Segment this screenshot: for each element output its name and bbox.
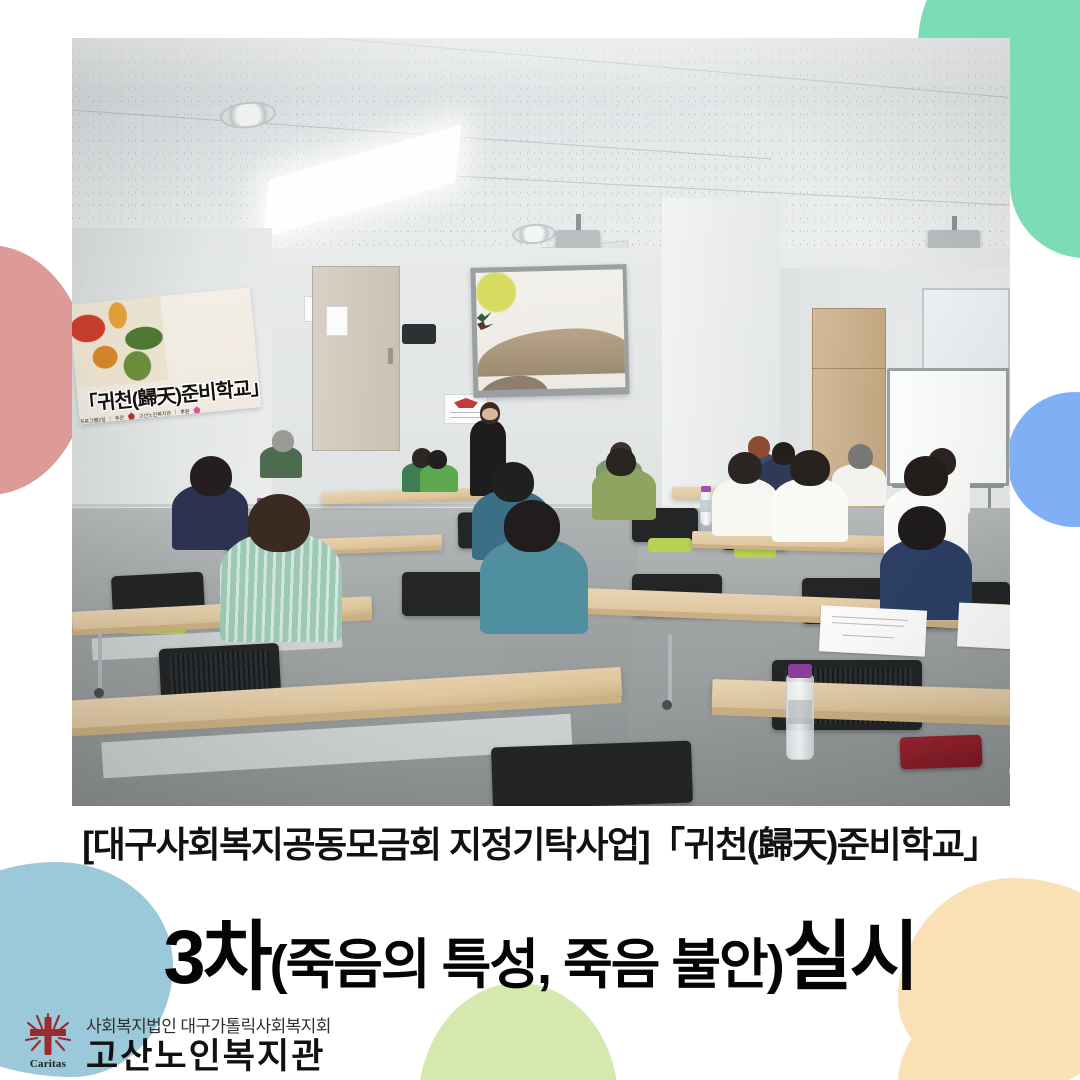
organization-parent-name: 사회복지법인 대구가톨릭사회복지회 (86, 1012, 331, 1037)
event-photo: 「귀천(歸天)준비학교」 프로그램2실 | 주관 고산노인복지관 | 후원 (72, 38, 1010, 806)
caption-line-1: [대구사회복지공동모금회 지정기탁사업]「귀천(歸天)준비학교」 (0, 816, 1080, 868)
caption-session-topic: (죽음의 특성, 죽음 불안) (270, 935, 783, 995)
caption-session-number: 3차 (163, 915, 269, 1000)
caritas-wordmark: Caritas (30, 1058, 66, 1070)
organization-logo: Caritas 사회복지법인 대구가톨릭사회복지회 고산노인복지관 (22, 1012, 331, 1076)
decor-blob-green-right (1010, 108, 1080, 258)
caption-session-status: 실시 (783, 915, 917, 1000)
caption-line-2: 3차(죽음의 특성, 죽음 불안)실시 (0, 895, 1080, 1005)
photo-vignette (72, 38, 1010, 806)
decor-blob-blue-right (1007, 392, 1080, 527)
organization-name: 고산노인복지관 (86, 1038, 331, 1076)
decor-blob-peach-corner (898, 1000, 1068, 1080)
caritas-logo-mark: Caritas (22, 1013, 74, 1075)
promo-card: 「귀천(歸天)준비학교」 프로그램2실 | 주관 고산노인복지관 | 후원 (0, 0, 1080, 1080)
caritas-cross-icon (24, 1013, 72, 1057)
organization-name-block: 사회복지법인 대구가톨릭사회복지회 고산노인복지관 (86, 1012, 331, 1076)
